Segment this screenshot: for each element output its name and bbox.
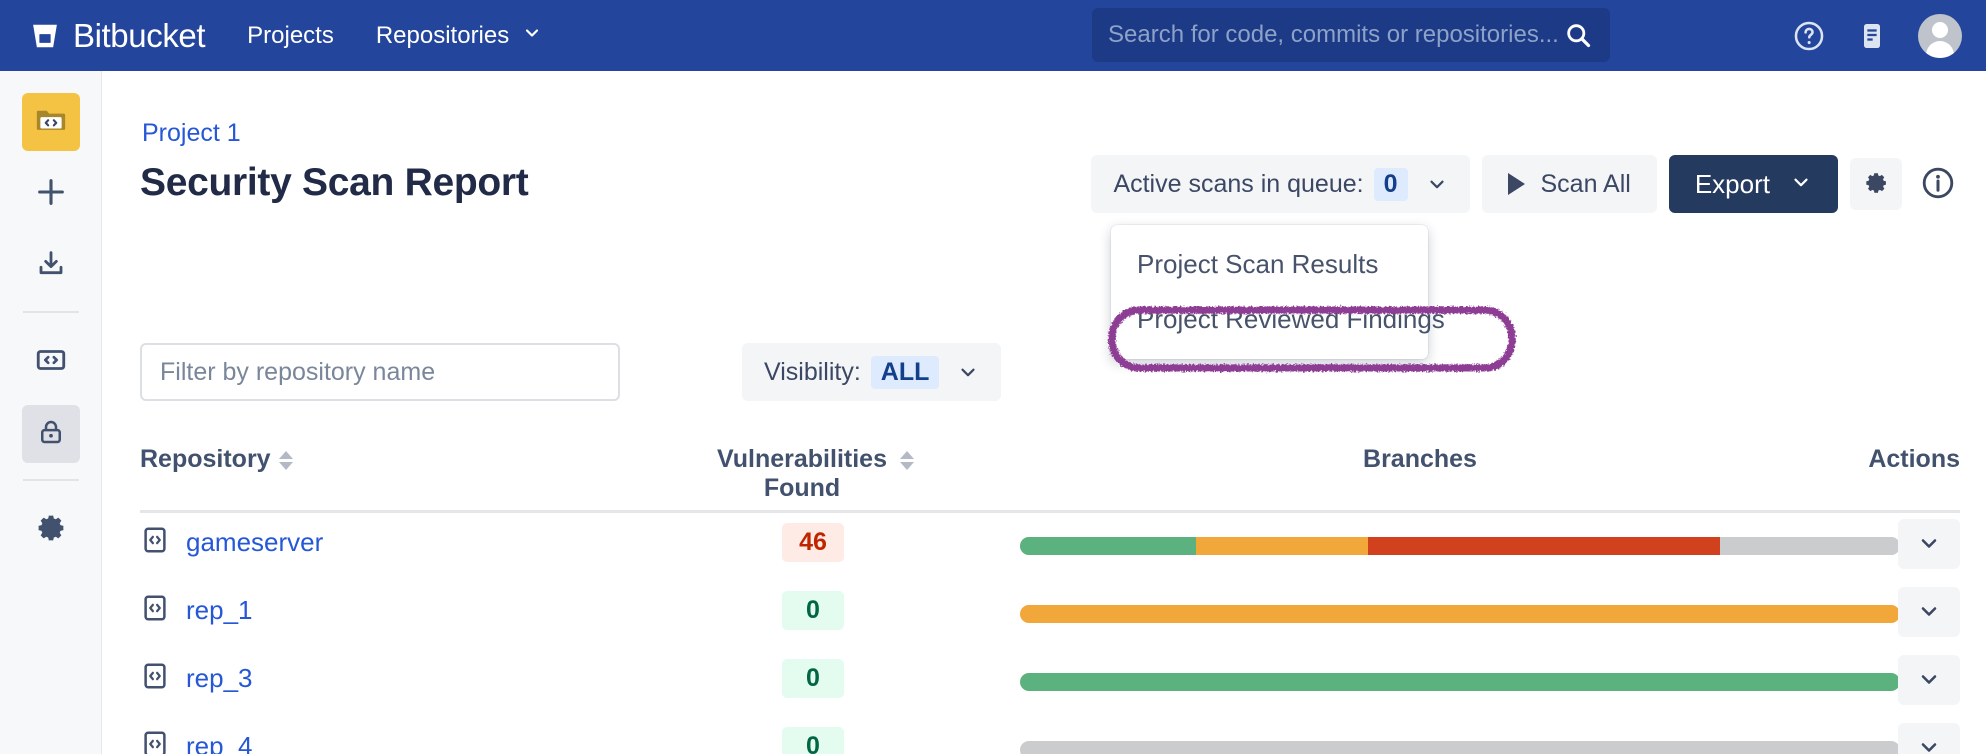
column-header-branches-label: Branches: [1363, 445, 1477, 474]
brand-name: Bitbucket: [73, 17, 205, 55]
table-header-row: Repository Vulnerabilities Found Branche…: [140, 441, 1960, 513]
info-button[interactable]: [1914, 160, 1962, 208]
vulnerabilities-cell: 0: [708, 659, 918, 698]
notifications-icon[interactable]: [1856, 20, 1888, 52]
security-scan-report-page: Bitbucket Projects Repositories: [0, 0, 1986, 754]
branches-bar: [1020, 537, 1900, 555]
page-title: Security Scan Report: [140, 161, 528, 205]
global-search[interactable]: [1092, 8, 1610, 62]
download-icon: [35, 248, 67, 285]
branches-bar: [1020, 605, 1900, 623]
actions-cell: [1898, 655, 1960, 705]
visibility-filter[interactable]: Visibility: ALL: [742, 343, 1001, 401]
column-header-repository[interactable]: Repository: [140, 445, 293, 474]
folder-code-icon: [34, 103, 68, 142]
repository-code-icon: [140, 661, 170, 696]
branch-segment: [1020, 741, 1900, 754]
chevron-down-icon[interactable]: [1426, 173, 1448, 195]
chevron-down-icon: [1917, 735, 1941, 754]
export-label: Export: [1695, 169, 1770, 200]
main-content: Project 1 Security Scan Report Active sc…: [102, 71, 1986, 754]
sort-toggle-vulnerabilities[interactable]: [900, 445, 914, 470]
plus-icon: [34, 175, 68, 214]
column-header-branches: Branches: [1020, 445, 1820, 474]
scan-all-button[interactable]: Scan All: [1482, 155, 1657, 213]
chevron-down-icon: [1917, 531, 1941, 558]
info-circle-icon: [1920, 165, 1956, 204]
sidebar-item-code[interactable]: [22, 333, 80, 391]
vulnerability-count-badge: 0: [782, 591, 844, 630]
actions-cell: [1898, 587, 1960, 637]
nav-icon-group: [1792, 0, 1962, 71]
table-row: rep_3 0: [140, 649, 1960, 717]
column-header-actions-label: Actions: [1868, 445, 1960, 474]
branches-bar: [1020, 741, 1900, 754]
left-sidebar: [0, 71, 102, 754]
row-expand-button[interactable]: [1898, 587, 1960, 637]
column-header-actions: Actions: [1868, 445, 1960, 474]
bitbucket-brand[interactable]: Bitbucket: [30, 17, 205, 55]
actions-cell: [1898, 519, 1960, 569]
settings-button[interactable]: [1850, 158, 1902, 210]
bitbucket-logo-icon: [30, 21, 60, 51]
play-icon: [1508, 173, 1525, 195]
repository-code-icon: [140, 525, 170, 560]
vuln-line1: Vulnerabilities: [717, 445, 887, 473]
search-icon[interactable]: [1564, 21, 1592, 49]
sidebar-item-create[interactable]: [22, 165, 80, 223]
repository-cell: rep_4: [140, 729, 253, 754]
repository-code-icon: [140, 593, 170, 628]
sort-toggle-repository[interactable]: [279, 445, 293, 470]
vuln-line2: Found: [764, 474, 840, 502]
gear-icon: [1861, 168, 1891, 201]
repository-link[interactable]: rep_4: [186, 731, 253, 754]
code-brackets-icon: [34, 343, 68, 382]
visibility-value: ALL: [871, 356, 940, 389]
help-icon[interactable]: [1792, 19, 1826, 53]
vulnerabilities-cell: 0: [708, 727, 918, 754]
repository-link[interactable]: rep_3: [186, 663, 253, 694]
repository-link[interactable]: rep_1: [186, 595, 253, 626]
table-row: rep_1 0: [140, 581, 1960, 649]
sidebar-item-settings[interactable]: [22, 501, 80, 559]
repository-link[interactable]: gameserver: [186, 527, 323, 558]
sidebar-item-project-repos[interactable]: [22, 93, 80, 151]
sidebar-divider-2: [23, 479, 79, 481]
table-row: gameserver 46: [140, 513, 1960, 581]
chevron-down-icon: [522, 22, 542, 50]
column-header-vulnerabilities-label: Vulnerabilities Found: [712, 445, 892, 503]
sidebar-item-import[interactable]: [22, 237, 80, 295]
branch-segment: [1020, 673, 1900, 691]
gear-icon: [33, 510, 69, 551]
row-expand-button[interactable]: [1898, 655, 1960, 705]
repositories-table: Repository Vulnerabilities Found Branche…: [140, 441, 1960, 754]
page-toolbar: Active scans in queue: 0 Scan All Export: [1091, 155, 1962, 213]
branch-segment: [1020, 537, 1196, 555]
export-menu-item-project-scan-results[interactable]: Project Scan Results: [1111, 237, 1428, 292]
top-navigation-bar: Bitbucket Projects Repositories: [0, 0, 1986, 71]
chevron-down-icon[interactable]: [957, 361, 979, 383]
active-scans-queue-pill[interactable]: Active scans in queue: 0: [1091, 155, 1469, 213]
active-scans-count: 0: [1374, 168, 1408, 201]
export-button[interactable]: Export: [1669, 155, 1838, 213]
repository-cell: rep_1: [140, 593, 253, 628]
nav-repositories[interactable]: Repositories: [376, 22, 542, 50]
table-body: gameserver 46 rep_1 0 rep_3: [140, 513, 1960, 754]
nav-projects[interactable]: Projects: [247, 22, 334, 50]
column-header-vulnerabilities[interactable]: Vulnerabilities Found: [708, 445, 918, 503]
vulnerabilities-cell: 0: [708, 591, 918, 630]
vulnerability-count-badge: 0: [782, 659, 844, 698]
branches-bar: [1020, 673, 1900, 691]
row-expand-button[interactable]: [1898, 519, 1960, 569]
branch-segment: [1368, 537, 1720, 555]
visibility-label: Visibility:: [764, 358, 861, 387]
nav-projects-label: Projects: [247, 22, 334, 50]
sidebar-divider-1: [23, 311, 79, 313]
repository-code-icon: [140, 729, 170, 754]
user-avatar[interactable]: [1918, 14, 1962, 58]
vulnerabilities-cell: 46: [708, 523, 918, 562]
nav-repositories-label: Repositories: [376, 22, 509, 50]
branch-segment: [1020, 605, 1900, 623]
vulnerability-count-badge: 46: [782, 523, 844, 562]
chevron-down-icon: [1917, 667, 1941, 694]
row-expand-button[interactable]: [1898, 723, 1960, 754]
active-scans-label: Active scans in queue:: [1113, 170, 1363, 199]
vulnerability-count-badge: 0: [782, 727, 844, 754]
branch-segment: [1720, 537, 1900, 555]
export-dropdown-menu: Project Scan Results Project Reviewed Fi…: [1111, 225, 1428, 359]
breadcrumb-project[interactable]: Project 1: [142, 119, 241, 148]
chevron-down-icon: [1790, 169, 1812, 200]
lock-icon: [36, 417, 66, 452]
repository-cell: gameserver: [140, 525, 323, 560]
repository-filter-input[interactable]: [140, 343, 620, 401]
column-header-repository-label: Repository: [140, 445, 271, 474]
search-input[interactable]: [1092, 21, 1564, 49]
scan-all-label: Scan All: [1541, 170, 1631, 199]
table-row: rep_4 0: [140, 717, 1960, 754]
sidebar-item-security[interactable]: [22, 405, 80, 463]
branch-segment: [1196, 537, 1368, 555]
chevron-down-icon: [1917, 599, 1941, 626]
repository-cell: rep_3: [140, 661, 253, 696]
export-menu-item-project-reviewed-findings[interactable]: Project Reviewed Findings: [1111, 292, 1428, 347]
actions-cell: [1898, 723, 1960, 754]
